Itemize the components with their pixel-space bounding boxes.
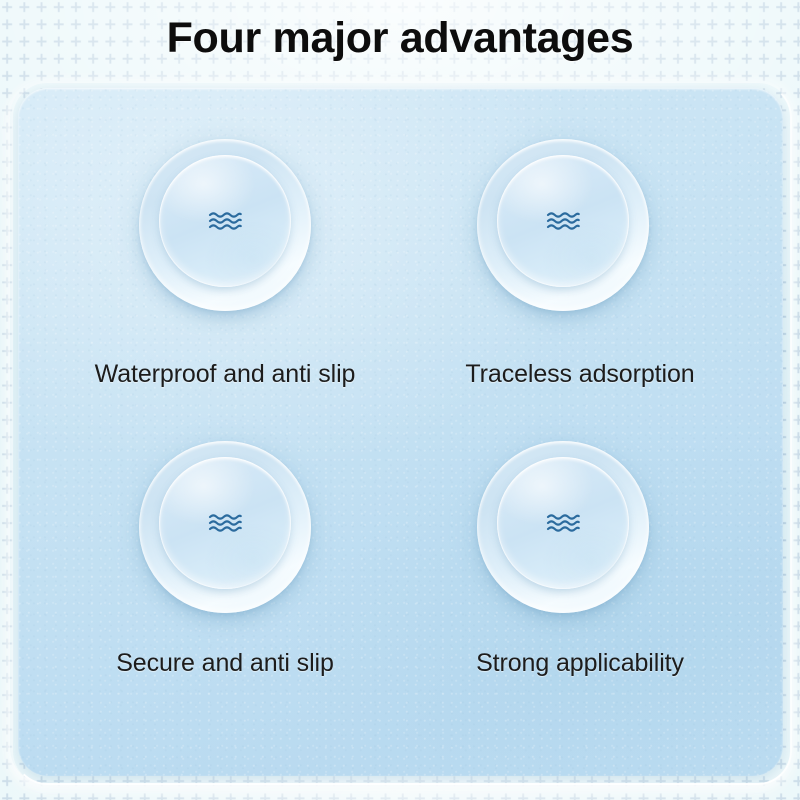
suction-cup-top-right[interactable] — [477, 139, 649, 311]
suction-cup-inner-disc — [159, 457, 291, 589]
feature-label-traceless-adsorption: Traceless adsorption — [360, 360, 800, 389]
suction-cup-inner-disc — [159, 155, 291, 287]
advantages-infographic: Four major advantages — [0, 0, 800, 800]
feature-label-strong-applicability: Strong applicability — [360, 649, 800, 678]
suction-cup-inner-disc — [497, 155, 629, 287]
suction-cup-bottom-right[interactable] — [477, 441, 649, 613]
water-wave-icon — [208, 512, 242, 534]
water-wave-icon — [208, 210, 242, 232]
suction-cup-bottom-left[interactable] — [139, 441, 311, 613]
suction-cup-top-left[interactable] — [139, 139, 311, 311]
water-wave-icon — [546, 210, 580, 232]
suction-cup-inner-disc — [497, 457, 629, 589]
page-title: Four major advantages — [0, 14, 800, 62]
water-wave-icon — [546, 512, 580, 534]
